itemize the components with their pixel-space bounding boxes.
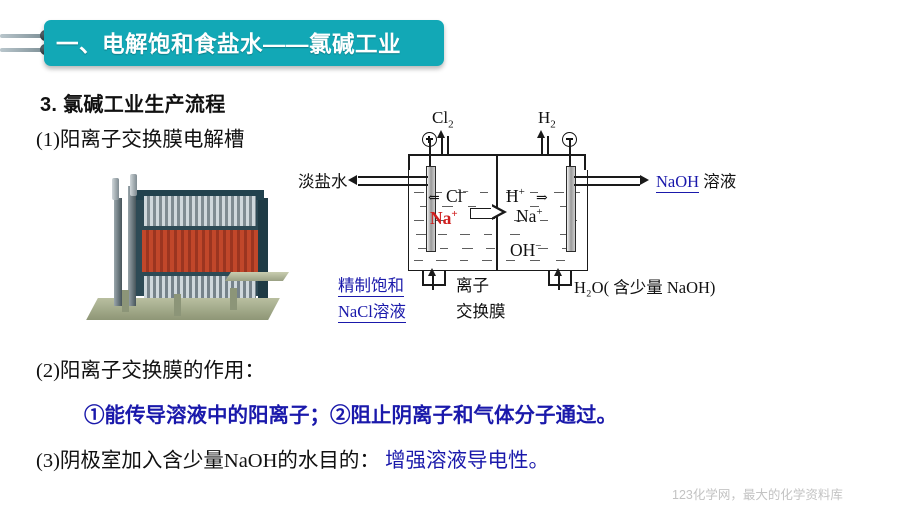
hydrogen-arrow-shaft bbox=[541, 136, 543, 156]
anode-lead bbox=[429, 138, 431, 168]
brine-outlet-arrow bbox=[348, 175, 357, 185]
banner-title-text: 一、电解饱和食盐水——氯碱工业 bbox=[44, 27, 401, 59]
membrane-label-line2: 交换膜 bbox=[456, 298, 506, 322]
chloride-ion-label: Cl− bbox=[446, 186, 469, 207]
section-heading: 3. 氯碱工业生产流程 bbox=[40, 88, 226, 117]
hydrogen-ion-label: H+ bbox=[506, 186, 525, 207]
watermark-text: 123化学网，最大的化学资料库 bbox=[672, 484, 843, 503]
sodium-ion-left-label: Na+ bbox=[430, 208, 458, 229]
naoh-outlet-pipe-bottom bbox=[574, 184, 640, 186]
feed-brine-label-line1: 精制饱和 bbox=[338, 272, 404, 296]
naoh-outlet-arrow bbox=[640, 175, 649, 185]
item-1-label: (1)阳离子交换膜电解槽 bbox=[36, 122, 244, 152]
brine-inlet-arrow-head bbox=[428, 268, 436, 276]
banner-plate: 一、电解饱和食盐水——氯碱工业 bbox=[44, 20, 444, 66]
item-2-answer: ①能传导溶液中的阳离子；②阻止阴离子和气体分子通过。 bbox=[84, 398, 617, 428]
chloride-migration-arrow: ⇐ bbox=[428, 190, 440, 207]
feed-brine-label-line2: NaCl溶液 bbox=[338, 298, 406, 322]
naoh-solution-label: NaOH 溶液 bbox=[656, 168, 736, 192]
brine-inlet-arrow-shaft bbox=[432, 274, 434, 290]
chlorine-arrow-head bbox=[437, 130, 445, 138]
item-2-label: (2)阳离子交换膜的作用： bbox=[36, 353, 265, 383]
sodium-transfer-block-arrow bbox=[470, 204, 508, 221]
naoh-formula: NaOH bbox=[656, 172, 699, 193]
hydroxide-ion-label: OH− bbox=[510, 240, 542, 261]
brine-outlet-pipe-top bbox=[358, 176, 428, 178]
naoh-solution-word: 溶液 bbox=[703, 172, 736, 191]
gas-label-chlorine: Cl2 bbox=[432, 108, 454, 130]
membrane-label-line1: 离子 bbox=[456, 272, 489, 296]
item-3-line: (3)阴极室加入含少量NaOH的水目的： 增强溶液导电性。 bbox=[36, 443, 549, 473]
gas-label-hydrogen: H2 bbox=[538, 108, 556, 130]
water-inlet-arrow-head bbox=[554, 268, 562, 276]
hydrogen-arrow-head bbox=[537, 130, 545, 138]
cathode bbox=[566, 166, 576, 252]
slide-canvas: 一、电解饱和食盐水——氯碱工业 3. 氯碱工业生产流程 (1)阳离子交换膜电解槽… bbox=[0, 0, 900, 506]
water-inlet-arrow-shaft bbox=[558, 274, 560, 290]
chlorine-arrow-shaft bbox=[441, 136, 443, 156]
electrolyzer-photo bbox=[78, 168, 286, 336]
brine-outlet-pipe-bottom bbox=[358, 184, 428, 186]
item-3-answer: 增强溶液导电性。 bbox=[385, 450, 549, 472]
dilute-brine-label: 淡盐水 bbox=[298, 168, 348, 192]
cathode-lead bbox=[569, 138, 571, 168]
water-inlet-label: H₂O( 含少量 NaOH) bbox=[574, 274, 715, 298]
sodium-ion-right-label: Na+ bbox=[516, 206, 543, 227]
item-3-question: (3)阴极室加入含少量NaOH的水目的： bbox=[36, 450, 380, 472]
title-banner: 一、电解饱和食盐水——氯碱工业 bbox=[0, 20, 470, 68]
hydrogen-migration-arrow: ⇒ bbox=[536, 190, 548, 207]
electrolysis-cell-diagram: Cl2 H2 bbox=[310, 108, 730, 333]
naoh-outlet-pipe-top bbox=[574, 176, 640, 178]
